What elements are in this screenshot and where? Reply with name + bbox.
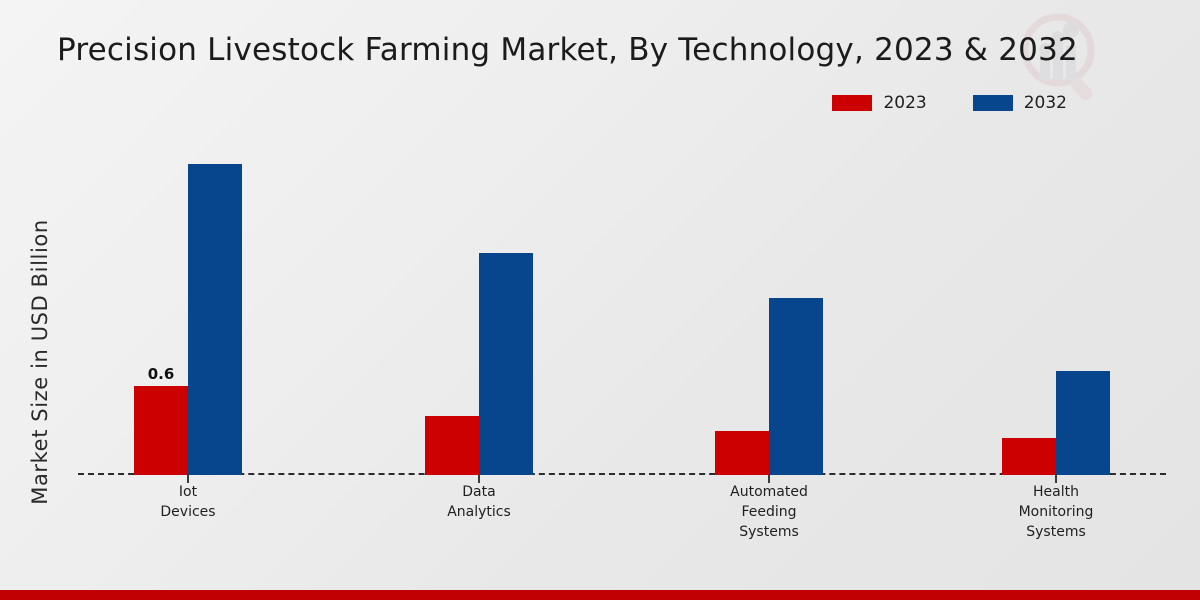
footer-bar	[0, 590, 1200, 600]
legend-item-2023[interactable]: 2023	[832, 93, 926, 113]
category-label-line: Devices	[108, 503, 268, 523]
bar-2032-2[interactable]	[769, 298, 823, 476]
bar-pair: 0.6	[134, 120, 242, 475]
category-label-line: Monitoring	[976, 503, 1136, 523]
category-label-1: DataAnalytics	[399, 483, 559, 523]
bar-group: HealthMonitoringSystems	[1002, 120, 1110, 475]
x-axis-tick	[768, 475, 770, 483]
bar-2023-2[interactable]	[715, 431, 769, 475]
bar-pair	[715, 120, 823, 475]
y-axis-title: Market Size in USD Billion	[28, 182, 52, 542]
bar-pair	[425, 120, 533, 475]
bar-2023-0[interactable]	[134, 386, 188, 475]
category-label-line: Analytics	[399, 503, 559, 523]
chart-title: Precision Livestock Farming Market, By T…	[57, 32, 1078, 68]
legend-label-2032: 2032	[1024, 93, 1067, 113]
legend-label-2023: 2023	[883, 93, 926, 113]
category-label-line: Data	[399, 483, 559, 503]
x-axis-tick	[187, 475, 189, 483]
legend-item-2032[interactable]: 2032	[973, 93, 1067, 113]
bar-group: 0.6IotDevices	[134, 120, 242, 475]
bar-2032-3[interactable]	[1056, 371, 1110, 475]
category-label-line: Systems	[689, 523, 849, 543]
bar-2023-3[interactable]	[1002, 438, 1056, 475]
chart-legend: 2023 2032	[832, 93, 1067, 113]
bar-2023-1[interactable]	[425, 416, 479, 475]
bar-pair	[1002, 120, 1110, 475]
bar-group: DataAnalytics	[425, 120, 533, 475]
x-axis-tick	[1055, 475, 1057, 483]
category-label-line: Health	[976, 483, 1136, 503]
category-label-0: IotDevices	[108, 483, 268, 523]
category-label-line: Systems	[976, 523, 1136, 543]
chart-page: Precision Livestock Farming Market, By T…	[0, 0, 1200, 600]
plot-area: 0.6IotDevicesDataAnalyticsAutomatedFeedi…	[78, 120, 1166, 475]
bar-group: AutomatedFeedingSystems	[715, 120, 823, 475]
bar-2032-1[interactable]	[479, 253, 533, 475]
legend-swatch-2032	[973, 95, 1013, 111]
x-axis-tick	[478, 475, 480, 483]
category-label-line: Feeding	[689, 503, 849, 523]
bar-2032-0[interactable]	[188, 164, 242, 475]
category-label-3: HealthMonitoringSystems	[976, 483, 1136, 543]
category-label-line: Iot	[108, 483, 268, 503]
category-label-line: Automated	[689, 483, 849, 503]
legend-swatch-2023	[832, 95, 872, 111]
category-label-2: AutomatedFeedingSystems	[689, 483, 849, 543]
bar-value-label: 0.6	[134, 365, 188, 383]
